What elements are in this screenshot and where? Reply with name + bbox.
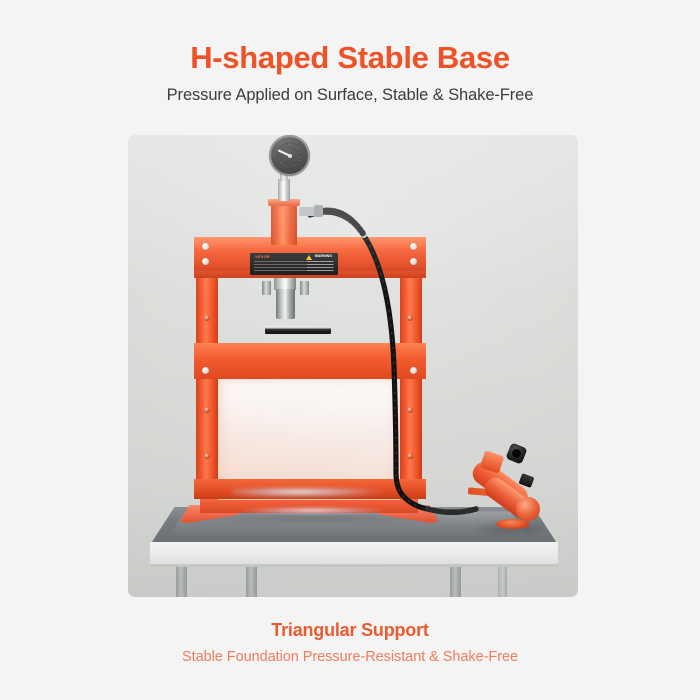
guard-gloss — [224, 383, 390, 443]
crossbeam-bolt — [410, 258, 417, 265]
footer-title: Triangular Support — [0, 620, 700, 641]
upright-hole — [407, 315, 413, 321]
ram-nut — [300, 281, 309, 295]
footer-subtitle: Stable Foundation Pressure-Resistant & S… — [0, 649, 700, 665]
pump-end-cap — [516, 497, 540, 521]
pump-base-foot — [496, 519, 530, 529]
workbench-leg — [246, 567, 257, 597]
guard-bottom-highlight — [232, 487, 382, 497]
product-photo: VEVOR WARNING — [128, 135, 578, 597]
press-plate — [265, 326, 331, 334]
crossbeam-bolt — [202, 258, 209, 265]
upright-hole — [407, 407, 413, 413]
warning-decal: VEVOR WARNING — [250, 253, 338, 275]
decal-text-block — [307, 261, 333, 272]
hose-nut — [314, 205, 323, 217]
pump-handle-socket — [505, 442, 527, 464]
hand-pump — [458, 435, 554, 543]
workbench-leg — [176, 567, 187, 597]
upright-hole — [204, 407, 210, 413]
base-highlight — [238, 507, 388, 514]
upright-hole — [204, 453, 210, 459]
workbench-leg — [450, 567, 461, 597]
guard-top-rail — [194, 343, 426, 379]
hose-fitting — [299, 207, 315, 216]
upright-hole — [204, 315, 210, 321]
hydraulic-cylinder — [271, 203, 297, 245]
ram-piston — [276, 289, 295, 319]
gauge-mount — [278, 179, 290, 201]
page-subtitle: Pressure Applied on Surface, Stable & Sh… — [0, 86, 700, 105]
frame-bolt — [410, 367, 417, 374]
crossbeam-bolt — [202, 243, 209, 250]
page-title: H-shaped Stable Base — [0, 40, 700, 76]
warning-text: WARNING — [315, 254, 332, 258]
ram-nut — [262, 281, 271, 295]
warning-triangle-icon — [306, 255, 312, 260]
hose-braid-upper — [314, 211, 364, 235]
pressure-gauge-icon — [271, 137, 308, 174]
frame-bolt — [202, 367, 209, 374]
workbench-leg — [498, 567, 507, 597]
upright-hole — [407, 453, 413, 459]
brand-logo: VEVOR — [255, 254, 270, 259]
product-feature-page: H-shaped Stable Base Pressure Applied on… — [0, 0, 700, 700]
gauge-hub — [288, 154, 292, 158]
workbench-apron — [150, 542, 558, 567]
crossbeam-bolt — [410, 243, 417, 250]
